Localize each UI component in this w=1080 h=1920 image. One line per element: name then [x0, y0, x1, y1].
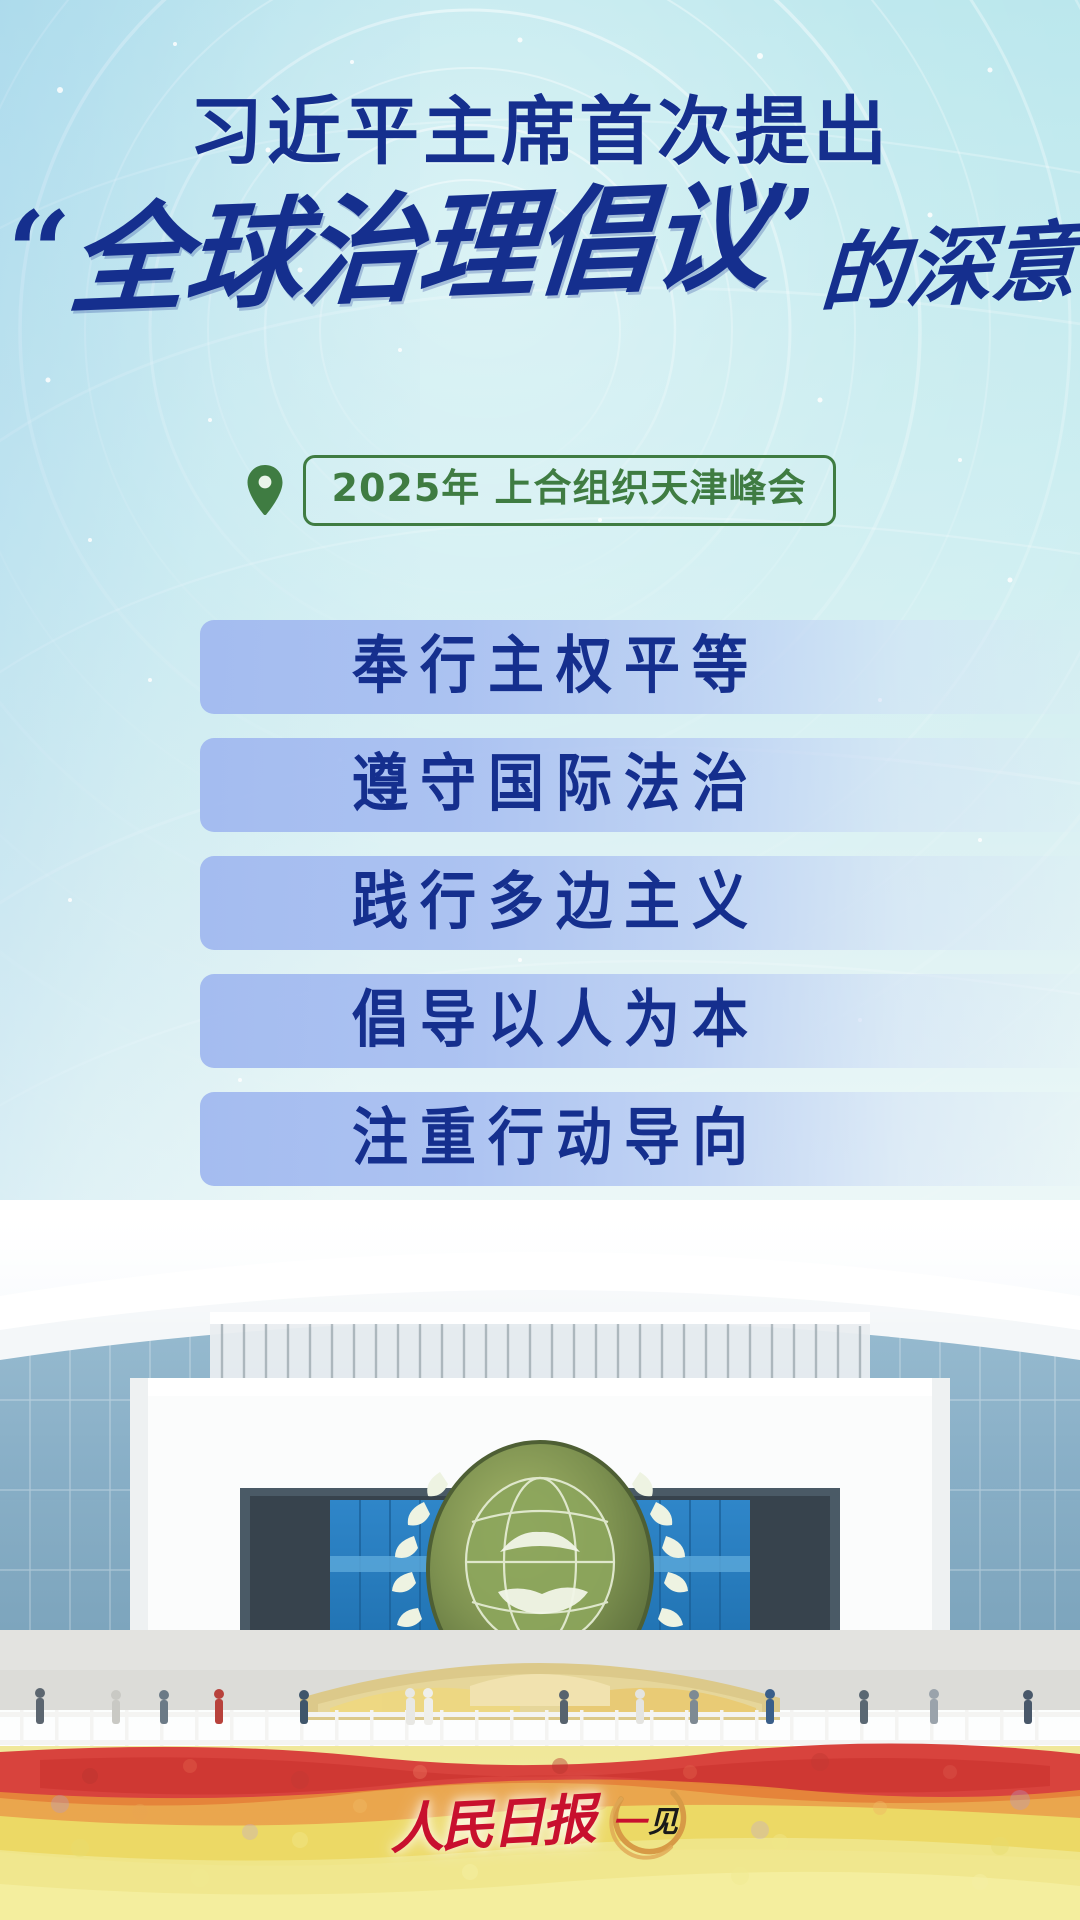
- list-item-label: 奉行主权平等: [200, 636, 900, 699]
- list-item[interactable]: 奉行主权平等: [200, 620, 1080, 714]
- calligraphy-title: “全球治理倡议”的深意: [0, 200, 1080, 324]
- list-item[interactable]: 践行多边主义: [200, 856, 1080, 950]
- location-pin-icon: [245, 464, 285, 516]
- calligraphy-tail-text: 的深意: [818, 219, 1079, 318]
- open-quote-mark: “: [7, 206, 71, 301]
- event-badge-label: 2025年 上合组织天津峰会: [303, 455, 836, 526]
- list-item[interactable]: 遵守国际法治: [200, 738, 1080, 832]
- list-item-label: 倡导以人为本: [200, 990, 900, 1053]
- list-item-label: 遵守国际法治: [200, 754, 900, 817]
- points-list: 奉行主权平等 遵守国际法治 践行多边主义 倡导以人为本 注重行动导向: [0, 620, 1080, 1210]
- close-quote-mark: ”: [754, 184, 818, 279]
- list-item[interactable]: 倡导以人为本: [200, 974, 1080, 1068]
- page-title: 习近平主席首次提出: [0, 95, 1080, 169]
- list-item[interactable]: 注重行动导向: [200, 1092, 1080, 1186]
- poster-root: 习近平主席首次提出 “全球治理倡议”的深意 2025年 上合组织天津峰会 奉行主…: [0, 0, 1080, 1920]
- venue-photo: [0, 1200, 1080, 1920]
- event-badge-row: 2025年 上合组织天津峰会: [0, 455, 1080, 526]
- venue-photo-illustration: [0, 1200, 1080, 1920]
- list-item-label: 注重行动导向: [200, 1108, 900, 1171]
- list-item-label: 践行多边主义: [200, 872, 900, 935]
- calligraphy-main-text: 全球治理倡议: [65, 173, 772, 324]
